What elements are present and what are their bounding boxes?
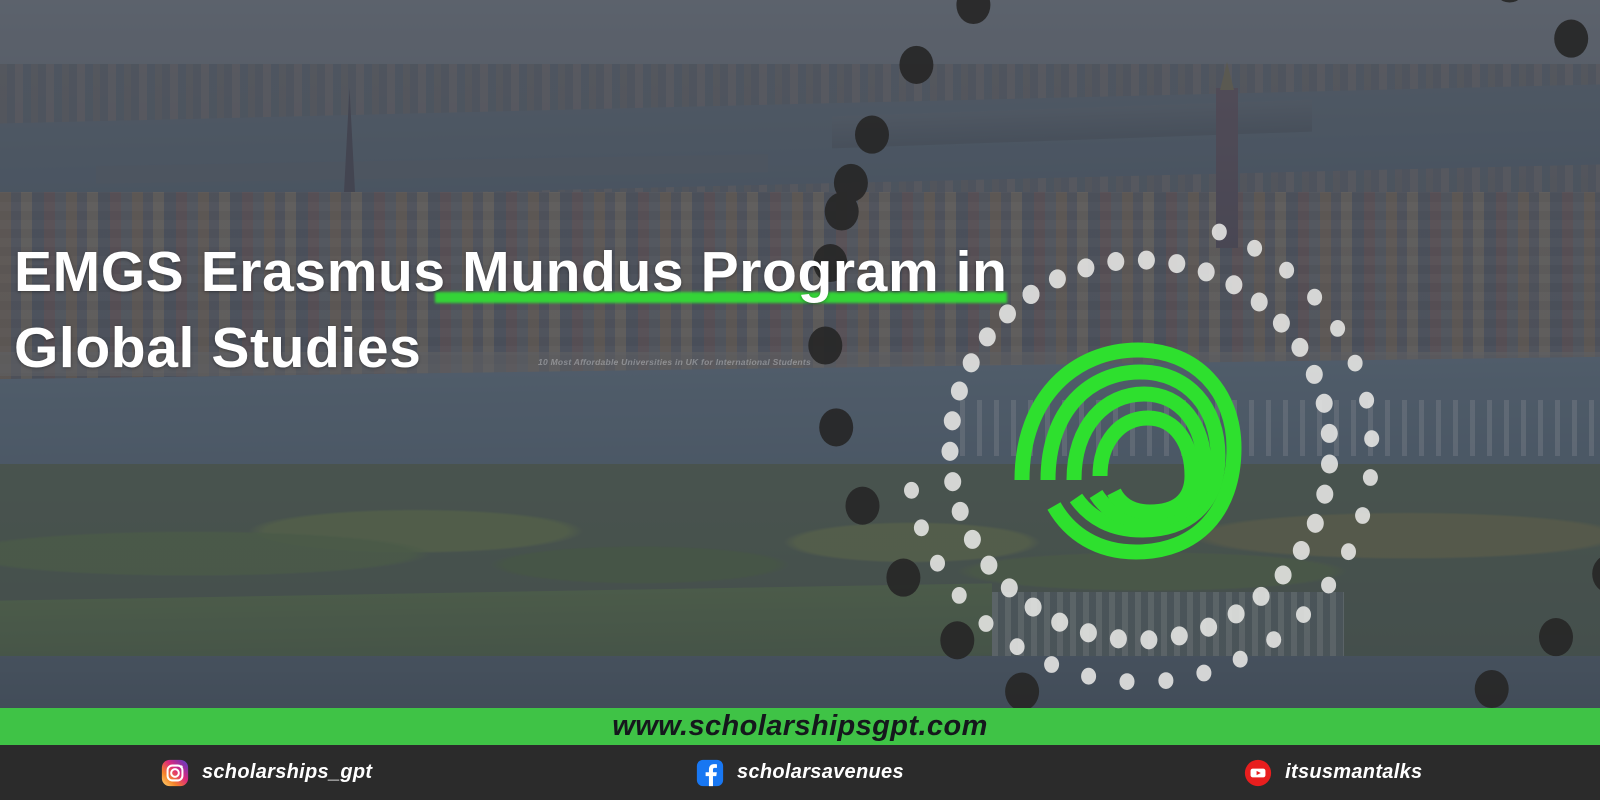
youtube-icon (1244, 759, 1272, 787)
facebook-handle: scholarsavenues (737, 761, 904, 784)
background-cityscape-photo (0, 0, 1600, 800)
headline-line-2: Global Studies (14, 310, 1094, 386)
instagram-handle: scholarships_gpt (202, 761, 372, 784)
website-url-bar: www.scholarshipsgpt.com (0, 708, 1600, 745)
promo-banner: 10 Most Affordable Universities in UK fo… (0, 0, 1600, 800)
social-link-youtube[interactable]: itsusmantalks (1067, 759, 1600, 787)
banner-headline: EMGS Erasmus Mundus Program in Global St… (14, 234, 1094, 386)
social-link-facebook[interactable]: scholarsavenues (533, 759, 1066, 787)
youtube-handle: itsusmantalks (1285, 761, 1422, 784)
website-url[interactable]: www.scholarshipsgpt.com (612, 710, 988, 743)
photo-dark-overlay (0, 0, 1600, 800)
instagram-icon (161, 759, 189, 787)
headline-line-1: EMGS Erasmus Mundus Program in (14, 240, 1008, 304)
social-link-instagram[interactable]: scholarships_gpt (0, 759, 533, 787)
social-links-bar: scholarships_gpt scholarsavenues itsusma… (0, 745, 1600, 800)
facebook-icon (696, 759, 724, 787)
